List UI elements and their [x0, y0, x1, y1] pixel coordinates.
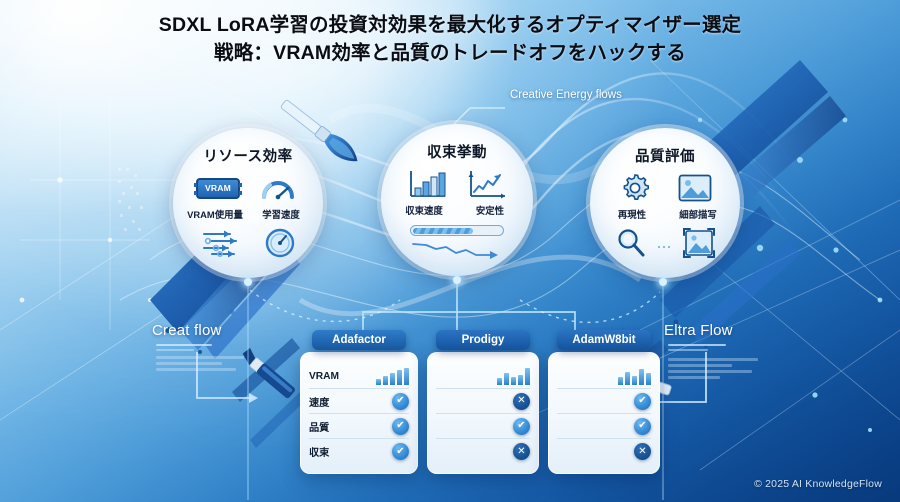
- node-title-resource: リソース効率: [203, 145, 292, 166]
- wave-decline-icon: [410, 240, 504, 267]
- card-body-adafactor: VRAM 速度 ✔ 品質 ✔ 収束 ✔: [300, 352, 418, 474]
- comparison-card-prodigy[interactable]: Prodigy VRAM 速度 ✕ 品質 ✔ 収束 ✕: [427, 352, 539, 474]
- comparison-card-adafactor[interactable]: Adafactor VRAM 速度 ✔ 品質 ✔ 収束 ✔: [300, 352, 418, 474]
- mark-badge-speed: ✔: [634, 393, 651, 410]
- card-row-quality: 品質 ✔: [436, 414, 530, 439]
- infographic-canvas: SDXL LoRA学習の投資対効果を最大化するオプティマイザー選定 戦略：VRA…: [0, 0, 900, 502]
- card-body-prodigy: VRAM 速度 ✕ 品質 ✔ 収束 ✕: [427, 352, 539, 474]
- annotation-creative-energy: Creative Energy flows: [510, 88, 630, 102]
- node-title-converge: 収束挙動: [427, 141, 487, 162]
- card-row-quality: 品質 ✔: [309, 414, 409, 439]
- card-row-vram: VRAM: [557, 364, 651, 389]
- card-title-adamw8bit: AdamW8bit: [557, 330, 651, 350]
- card-row-speed: 速度 ✕: [436, 389, 530, 414]
- card-body-adamw8bit: VRAM 速度 ✔ 品質 ✔ 収束 ✕: [548, 352, 660, 474]
- connector-node-dot: [453, 276, 461, 284]
- quality-label-repro: 再現性: [602, 207, 662, 221]
- resource-sub-icon-row: [200, 227, 296, 264]
- speedometer-icon: [264, 227, 296, 264]
- mark-badge-quality: ✔: [392, 418, 409, 435]
- gear-icon: [612, 173, 658, 203]
- resource-label-row: VRAM使用量 学習速度: [185, 207, 311, 221]
- node-convergence-behavior[interactable]: 収束挙動: [381, 124, 533, 276]
- vram-chip-icon: VRAM: [195, 173, 241, 203]
- mark-badge-converge: ✕: [634, 443, 651, 460]
- converge-icon-row: [404, 169, 510, 199]
- row-label-converge: 収束: [309, 444, 329, 459]
- connector-node-dot: [244, 278, 252, 286]
- chip-label: VRAM: [205, 183, 231, 193]
- vram-bar-chart: [376, 367, 409, 385]
- progress-bar-icon: [410, 225, 504, 236]
- vram-bar-chart: [618, 367, 651, 385]
- row-label-speed: 速度: [309, 394, 329, 409]
- node-resource-efficiency[interactable]: リソース効率 VRAM VRAM使用量 学習速度: [173, 128, 323, 278]
- resource-label-vram: VRAM使用量: [185, 207, 245, 221]
- quality-sub-icon-row: [615, 227, 715, 264]
- resource-label-speed: 学習速度: [251, 207, 311, 221]
- magnifier-icon: [615, 227, 647, 264]
- title-line-1: SDXL LoRA学習の投資対効果を最大化するオプティマイザー選定: [0, 12, 900, 40]
- card-row-quality: 品質 ✔: [557, 414, 651, 439]
- quality-label-row: 再現性 細部描写: [602, 207, 728, 221]
- annotation-creat-flow: Creat flow: [152, 322, 222, 341]
- eltra-flow-rule-2: [668, 349, 708, 351]
- card-row-converge: 収束 ✔: [309, 439, 409, 464]
- card-row-vram: VRAM: [309, 364, 409, 389]
- comparison-card-adamw8bit[interactable]: AdamW8bit VRAM 速度 ✔ 品質 ✔ 収束 ✕: [548, 352, 660, 474]
- progress-bar-fill: [413, 228, 474, 234]
- card-row-speed: 速度 ✔: [557, 389, 651, 414]
- creat-flow-code-lines: [156, 356, 246, 374]
- page-title: SDXL LoRA学習の投資対効果を最大化するオプティマイザー選定 戦略：VRA…: [0, 12, 900, 67]
- node-title-quality: 品質評価: [635, 145, 695, 166]
- converge-sub-icon-row: [410, 223, 504, 267]
- card-row-vram: VRAM: [436, 364, 530, 389]
- row-label-quality: 品質: [309, 419, 329, 434]
- connector-node-dot: [659, 278, 667, 286]
- card-title-adafactor: Adafactor: [312, 330, 406, 350]
- row-label-vram: VRAM: [309, 371, 339, 382]
- mark-badge-quality: ✔: [634, 418, 651, 435]
- mark-badge-speed: ✔: [392, 393, 409, 410]
- title-line-2: 戦略：VRAM効率と品質のトレードオフをハックする: [0, 40, 900, 68]
- converge-label-row: 収束速度 安定性: [394, 203, 520, 217]
- resource-icon-row: VRAM: [195, 173, 301, 203]
- creat-flow-rule-2: [156, 349, 194, 351]
- bar-chart-icon: [404, 169, 450, 199]
- card-title-prodigy: Prodigy: [436, 330, 530, 350]
- pen-icon: [239, 347, 298, 400]
- gauge-icon: [255, 173, 301, 203]
- trend-line-icon: [464, 169, 510, 199]
- creat-flow-rule: [156, 344, 212, 346]
- eltra-flow-rule: [668, 344, 726, 346]
- mark-badge-quality: ✔: [513, 418, 530, 435]
- chip-body: VRAM: [196, 178, 240, 199]
- mark-badge-converge: ✕: [513, 443, 530, 460]
- image-icon: [672, 173, 718, 203]
- mark-badge-speed: ✕: [513, 393, 530, 410]
- node-quality-evaluation[interactable]: 品質評価 再現性 細部描写: [590, 128, 740, 278]
- dotted-link-icon: [657, 237, 673, 255]
- copyright-text: © 2025 AI KnowledgeFlow: [754, 478, 882, 490]
- converge-label-speed: 収束速度: [394, 203, 454, 217]
- mark-badge-converge: ✔: [392, 443, 409, 460]
- converge-label-stability: 安定性: [460, 203, 520, 217]
- vram-bar-chart: [497, 367, 530, 385]
- card-row-converge: 収束 ✕: [436, 439, 530, 464]
- framed-image-icon: [683, 228, 715, 263]
- quality-icon-row: [612, 173, 718, 203]
- eltra-flow-code-lines: [668, 358, 760, 382]
- card-row-converge: 収束 ✕: [557, 439, 651, 464]
- card-row-speed: 速度 ✔: [309, 389, 409, 414]
- annotation-eltra-flow: Eltra Flow: [664, 322, 733, 341]
- flow-arrows-icon: [200, 227, 254, 264]
- quality-label-detail: 細部描写: [668, 207, 728, 221]
